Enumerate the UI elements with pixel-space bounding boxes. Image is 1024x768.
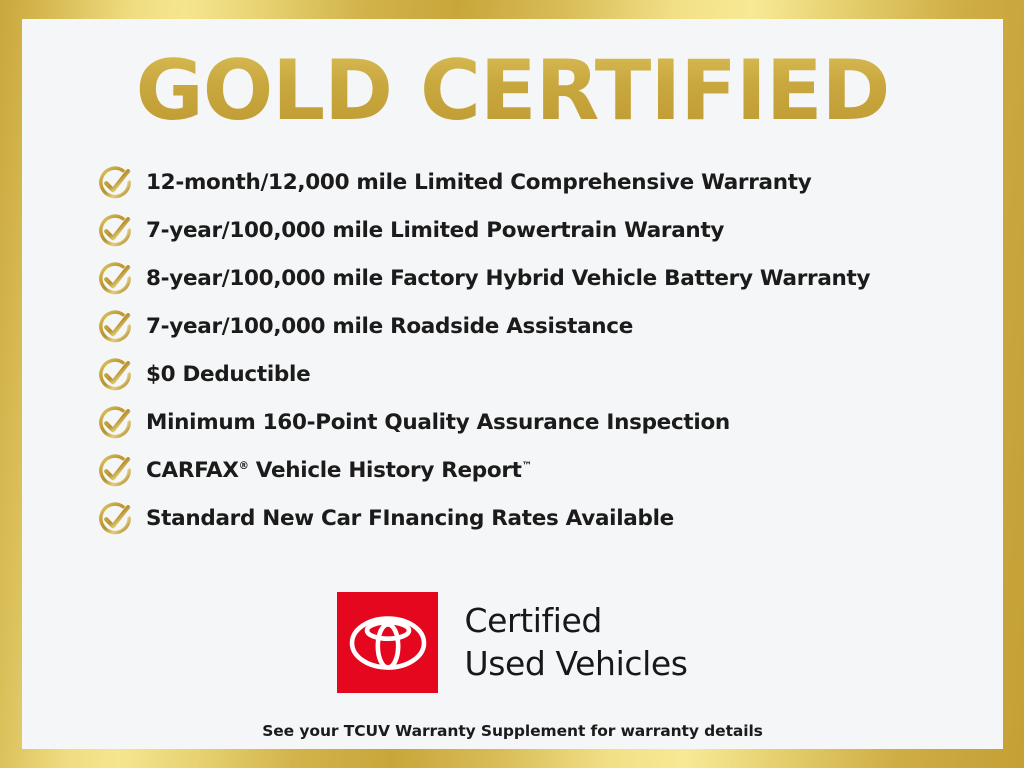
benefits-list: 12-month/12,000 mile Limited Comprehensi… [95, 159, 995, 543]
benefit-item: Standard New Car FInancing Rates Availab… [95, 495, 995, 543]
benefit-item: 12-month/12,000 mile Limited Comprehensi… [95, 159, 995, 207]
gold-check-circle-icon [95, 355, 135, 395]
benefit-label: $0 Deductible [146, 364, 310, 386]
certification-card: GOLD CERTIFIED 12-month/12,000 mile Limi… [22, 19, 1003, 749]
trademark-symbol: ™ [522, 460, 532, 472]
toyota-badge [337, 592, 438, 693]
gold-check-circle-icon [95, 451, 135, 491]
toyota-certified-used-vehicles-lockup: Certified Used Vehicles [22, 592, 1003, 693]
benefit-item: Minimum 160-Point Quality Assurance Insp… [95, 399, 995, 447]
lockup-line-1: Certified [464, 600, 687, 642]
benefit-text-run: Vehicle History Report [249, 458, 522, 483]
benefit-label: 12-month/12,000 mile Limited Comprehensi… [146, 172, 811, 194]
footer-disclaimer: See your TCUV Warranty Supplement for wa… [22, 722, 1003, 740]
benefit-text-run: CARFAX [146, 458, 239, 483]
benefit-label: 8-year/100,000 mile Factory Hybrid Vehic… [146, 268, 870, 290]
benefit-item: CARFAX® Vehicle History Report™ [95, 447, 995, 495]
benefit-item: 8-year/100,000 mile Factory Hybrid Vehic… [95, 255, 995, 303]
trademark-symbol: ® [239, 460, 249, 472]
lockup-wordmark: Certified Used Vehicles [464, 600, 687, 684]
benefit-label: 7-year/100,000 mile Roadside Assistance [146, 316, 633, 338]
benefit-label: Standard New Car FInancing Rates Availab… [146, 508, 674, 530]
gold-check-circle-icon [95, 163, 135, 203]
page-title: GOLD CERTIFIED [22, 49, 1003, 132]
lockup-line-2: Used Vehicles [464, 643, 687, 685]
toyota-emblem-icon [348, 615, 428, 671]
gold-check-circle-icon [95, 259, 135, 299]
gold-check-circle-icon [95, 499, 135, 539]
benefit-item: $0 Deductible [95, 351, 995, 399]
benefit-label: CARFAX® Vehicle History Report™ [146, 460, 532, 482]
benefit-label: Minimum 160-Point Quality Assurance Insp… [146, 412, 730, 434]
benefit-item: 7-year/100,000 mile Limited Powertrain W… [95, 207, 995, 255]
gold-gradient-frame: GOLD CERTIFIED 12-month/12,000 mile Limi… [0, 0, 1024, 768]
gold-check-circle-icon [95, 307, 135, 347]
gold-check-circle-icon [95, 403, 135, 443]
benefit-item: 7-year/100,000 mile Roadside Assistance [95, 303, 995, 351]
gold-check-circle-icon [95, 211, 135, 251]
benefit-label: 7-year/100,000 mile Limited Powertrain W… [146, 220, 724, 242]
